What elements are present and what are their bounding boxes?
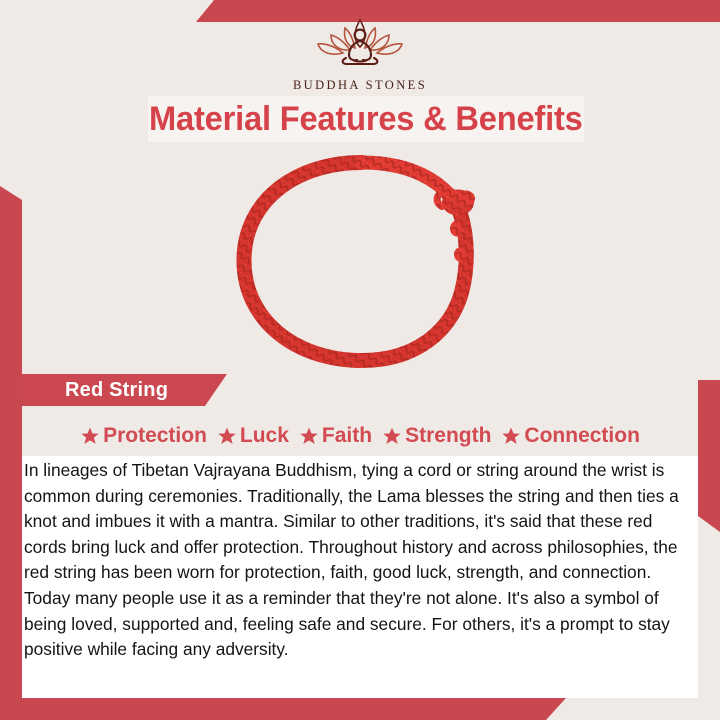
star-icon bbox=[217, 426, 237, 446]
benefit-label: Luck bbox=[240, 424, 289, 448]
star-icon bbox=[501, 426, 521, 446]
benefit-label: Strength bbox=[405, 424, 491, 448]
lotus-meditation-icon bbox=[301, 14, 419, 76]
material-features-poster: BUDDHA STONES Material Features & Benefi… bbox=[0, 0, 720, 720]
benefit-label: Faith bbox=[322, 424, 372, 448]
brand-logo: BUDDHA STONES bbox=[0, 14, 720, 93]
star-icon bbox=[382, 426, 402, 446]
page-title: Material Features & Benefits bbox=[149, 100, 583, 139]
benefit-item: Strength bbox=[377, 424, 496, 448]
brand-name: BUDDHA STONES bbox=[0, 78, 720, 93]
benefit-item: Protection bbox=[75, 424, 212, 448]
product-image-area bbox=[22, 146, 698, 378]
decorative-band-bottom bbox=[0, 698, 566, 720]
decorative-band-right bbox=[698, 380, 720, 532]
benefit-item: Connection bbox=[496, 424, 645, 448]
product-name-label: Red String bbox=[65, 379, 168, 402]
star-icon bbox=[80, 426, 100, 446]
benefit-label: Protection bbox=[103, 424, 207, 448]
headline-banner: Material Features & Benefits bbox=[148, 96, 584, 142]
product-name-ribbon: Red String bbox=[22, 374, 227, 406]
red-braided-string-bracelet-icon bbox=[230, 155, 490, 370]
benefit-item: Luck bbox=[212, 424, 294, 448]
benefits-row: Protection Luck Faith Strength Connectio bbox=[22, 420, 698, 452]
benefit-label: Connection bbox=[524, 424, 640, 448]
description-text: In lineages of Tibetan Vajrayana Buddhis… bbox=[24, 458, 684, 663]
decorative-band-left bbox=[0, 186, 22, 720]
benefit-item: Faith bbox=[294, 424, 377, 448]
star-icon bbox=[299, 426, 319, 446]
